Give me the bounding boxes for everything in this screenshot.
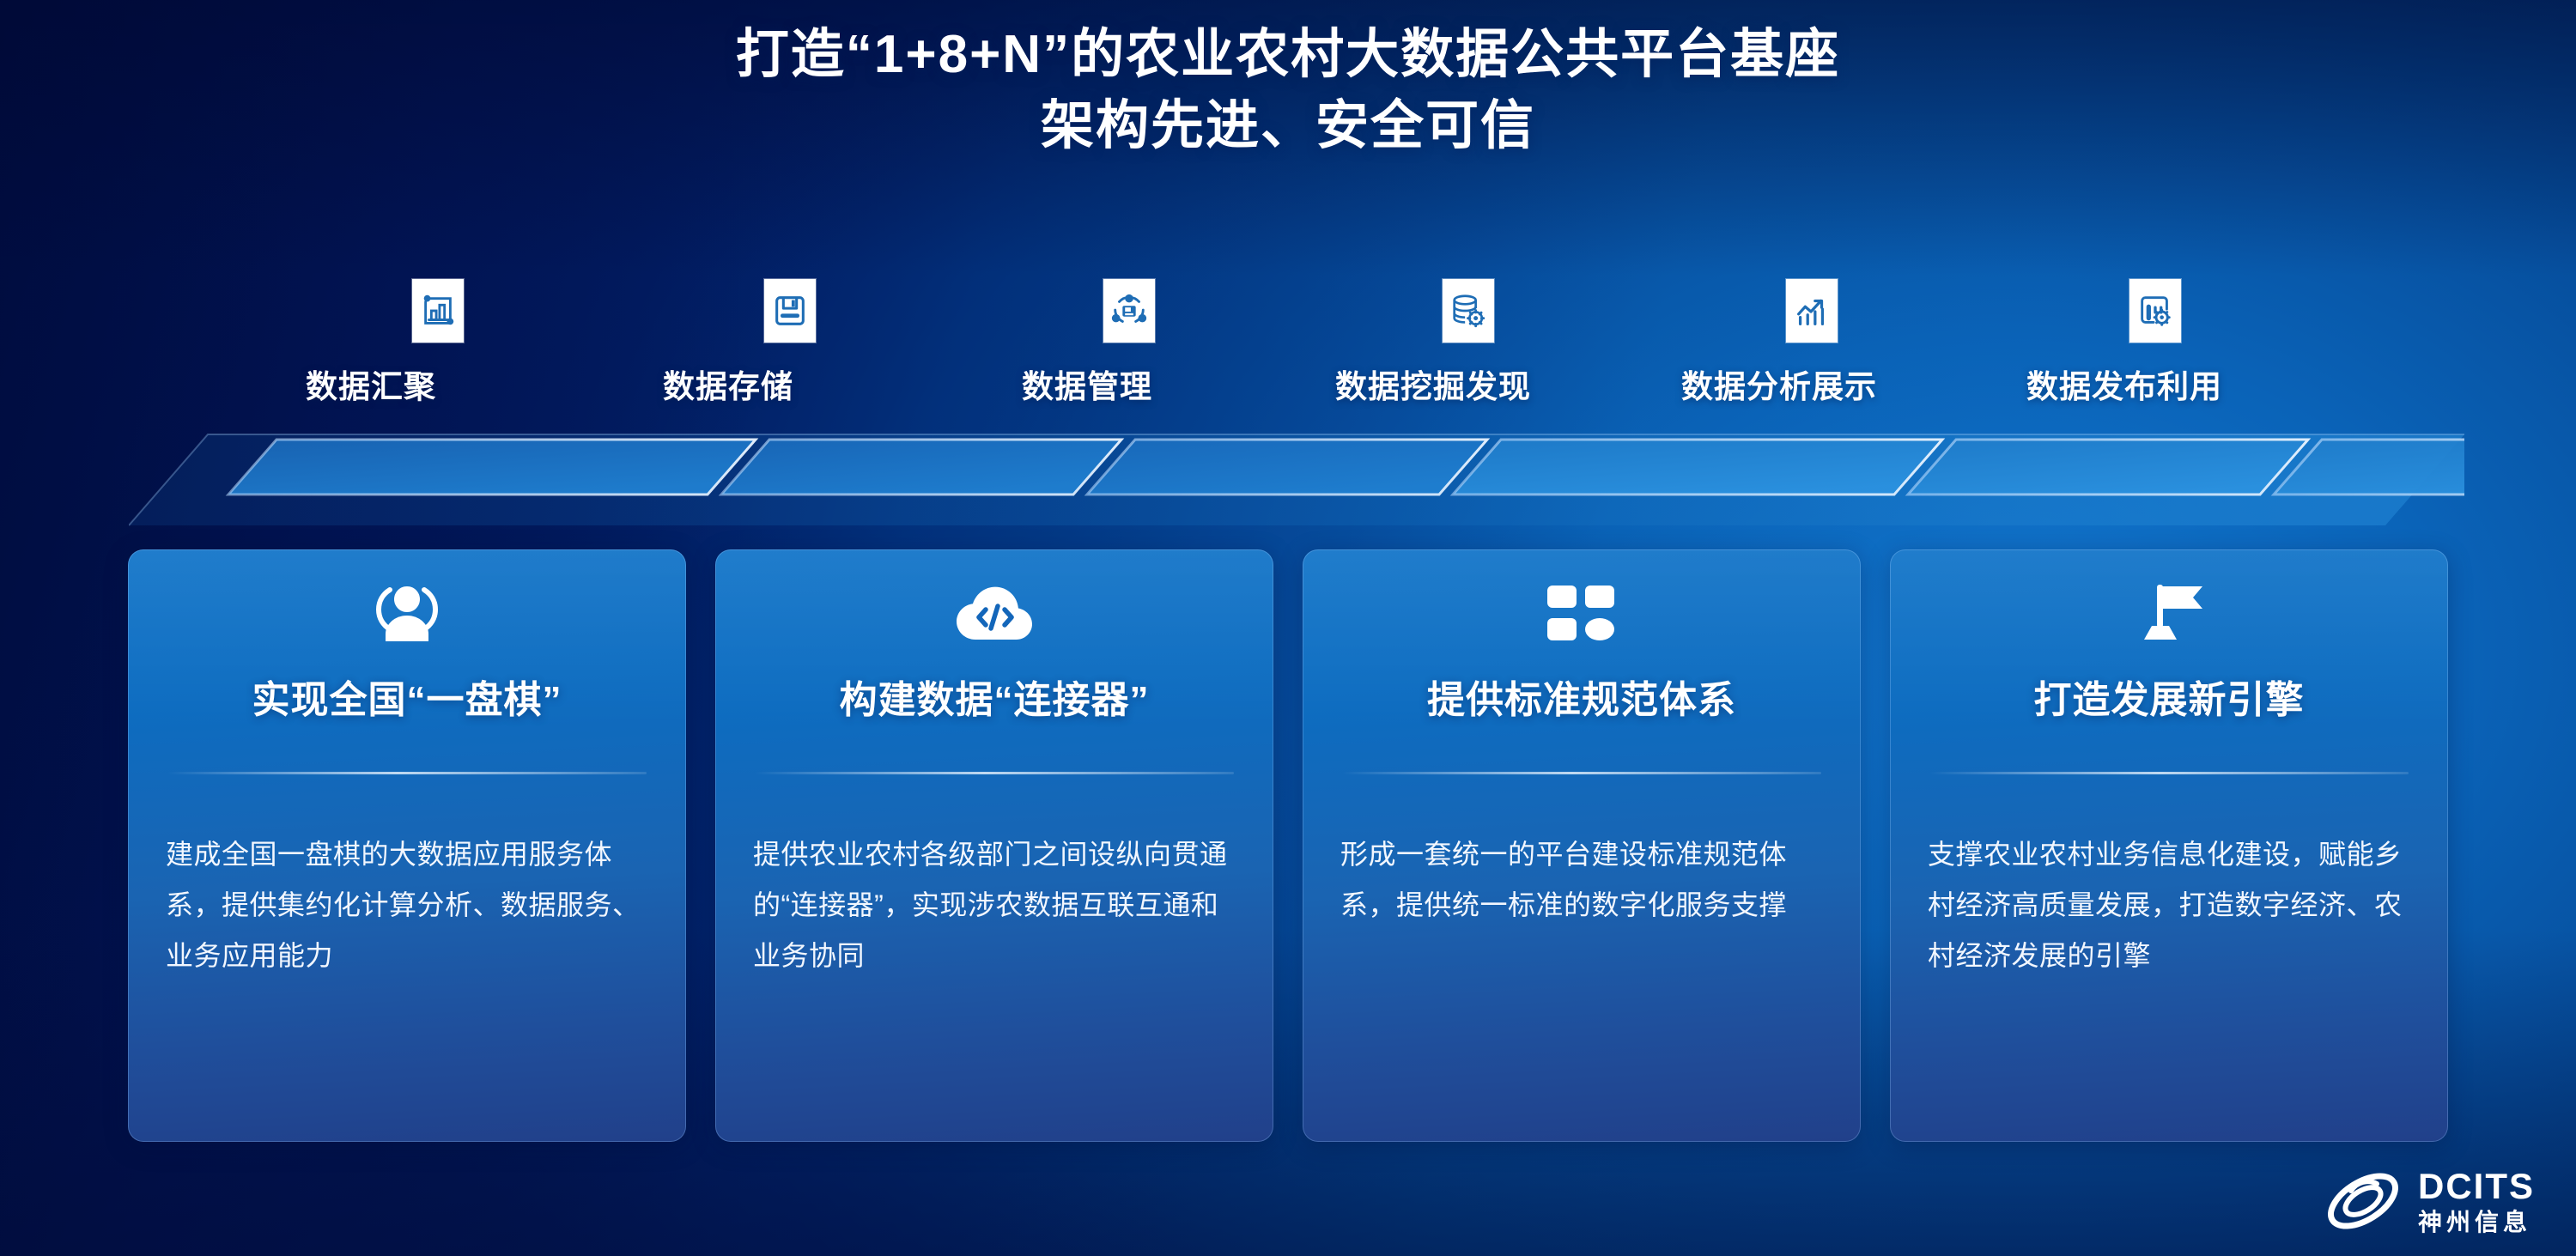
- flag-icon: [1928, 549, 2410, 678]
- feature-card-list: 实现全国“一盘棋” 建成全国一盘棋的大数据应用服务体系，提供集约化计算分析、数据…: [0, 549, 2576, 1150]
- dcits-logo-subtitle: 神州信息: [2418, 1210, 2535, 1235]
- grid-blocks-icon: [1340, 549, 1823, 678]
- dcits-logo-name: DCITS: [2418, 1168, 2535, 1204]
- card-divider: [167, 772, 647, 774]
- process-band-shapes: [129, 283, 2464, 532]
- feature-card-title-0: 实现全国“一盘棋”: [166, 678, 648, 724]
- feature-card-title-3: 打造发展新引擎: [1928, 678, 2410, 724]
- feature-card-2[interactable]: 提供标准规范体系 形成一套统一的平台建设标准规范体系，提供统一标准的数字化服务支…: [1303, 549, 1861, 1142]
- feature-card-3[interactable]: 打造发展新引擎 支撑农业农村业务信息化建设，赋能乡村经济高质量发展，打造数字经济…: [1890, 549, 2448, 1142]
- card-divider: [1342, 772, 1821, 774]
- feature-card-0[interactable]: 实现全国“一盘棋” 建成全国一盘棋的大数据应用服务体系，提供集约化计算分析、数据…: [128, 549, 686, 1142]
- dcits-logo: DCITS 神州信息: [2322, 1165, 2535, 1237]
- trend-up-chart-icon: [1786, 279, 1838, 343]
- process-band-label-4: 数据分析展示: [1681, 361, 1877, 407]
- process-band-label-2: 数据管理: [1022, 361, 1152, 407]
- process-band-label-1: 数据存储: [663, 361, 793, 407]
- process-band-label-3: 数据挖掘发现: [1335, 361, 1531, 407]
- feature-card-body-3: 支撑农业农村业务信息化建设，赋能乡村经济高质量发展，打造数字经济、农村经济发展的…: [1928, 829, 2410, 982]
- card-divider: [755, 772, 1234, 774]
- network-nodes-server-icon: [1103, 279, 1155, 343]
- process-band-label-5: 数据发布利用: [2026, 361, 2222, 407]
- dcits-swirl-icon: [2322, 1165, 2404, 1237]
- dcits-logo-text: DCITS 神州信息: [2418, 1168, 2535, 1235]
- feature-card-body-0: 建成全国一盘棋的大数据应用服务体系，提供集约化计算分析、数据服务、业务应用能力: [166, 829, 648, 982]
- page-title-line-2: 架构先进、安全可信: [0, 90, 2576, 161]
- page-title: 打造“1+8+N”的农业农村大数据公共平台基座 架构先进、安全可信: [0, 19, 2576, 161]
- database-gear-icon: [1443, 279, 1494, 343]
- page-title-line-1: 打造“1+8+N”的农业农村大数据公共平台基座: [0, 19, 2576, 90]
- cloud-code-icon: [753, 549, 1236, 678]
- card-divider: [1929, 772, 2409, 774]
- feature-card-body-1: 提供农业农村各级部门之间设纵向贯通的“连接器”，实现涉农数据互联互通和业务协同: [753, 829, 1236, 982]
- floppy-disk-icon: [764, 279, 816, 343]
- users-group-icon: [166, 549, 648, 678]
- feature-card-title-2: 提供标准规范体系: [1340, 678, 1823, 724]
- bar-chart-frame-icon: [412, 279, 464, 343]
- chart-document-gear-icon: [2129, 279, 2181, 343]
- process-band: 数据汇聚 数据存储 数据管理 数据挖掘发现 数据分析展示 数据发布利用: [129, 283, 2464, 532]
- feature-card-body-2: 形成一套统一的平台建设标准规范体系，提供统一标准的数字化服务支撑: [1340, 829, 1823, 931]
- feature-card-title-1: 构建数据“连接器”: [753, 678, 1236, 724]
- process-band-label-0: 数据汇聚: [306, 361, 436, 407]
- feature-card-1[interactable]: 构建数据“连接器” 提供农业农村各级部门之间设纵向贯通的“连接器”，实现涉农数据…: [715, 549, 1273, 1142]
